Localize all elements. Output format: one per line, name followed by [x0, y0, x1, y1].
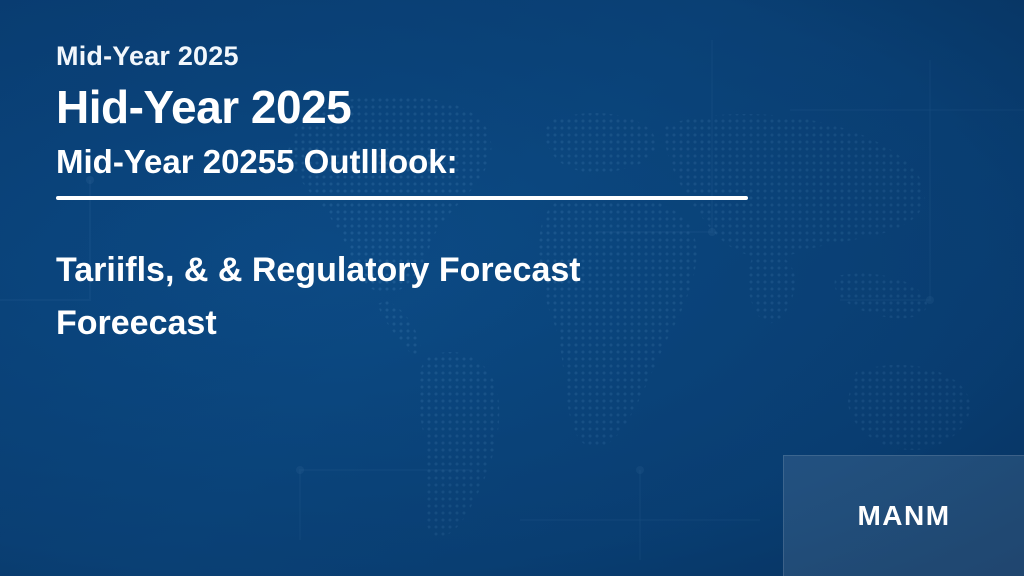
- page-title: Hid-Year 2025: [56, 80, 968, 135]
- presentation-slide: Mid-Year 2025 Hid-Year 2025 Mid-Year 202…: [0, 0, 1024, 576]
- subtitle-block: Tariifls, & & Regulatory Forecast Foreec…: [56, 244, 936, 349]
- page-subtitle: Mid-Year 20255 Outlllook:: [56, 141, 968, 182]
- subtitle-line-1: Tariifls, & & Regulatory Forecast: [56, 251, 581, 289]
- slide-content: Mid-Year 2025 Hid-Year 2025 Mid-Year 202…: [56, 40, 968, 350]
- eyebrow-text: Mid-Year 2025: [56, 40, 968, 74]
- brand-panel: MANM: [783, 455, 1024, 576]
- title-divider: [56, 196, 748, 200]
- subtitle-line-2: Foreecast: [56, 297, 936, 350]
- brand-mark: MANM: [857, 500, 950, 532]
